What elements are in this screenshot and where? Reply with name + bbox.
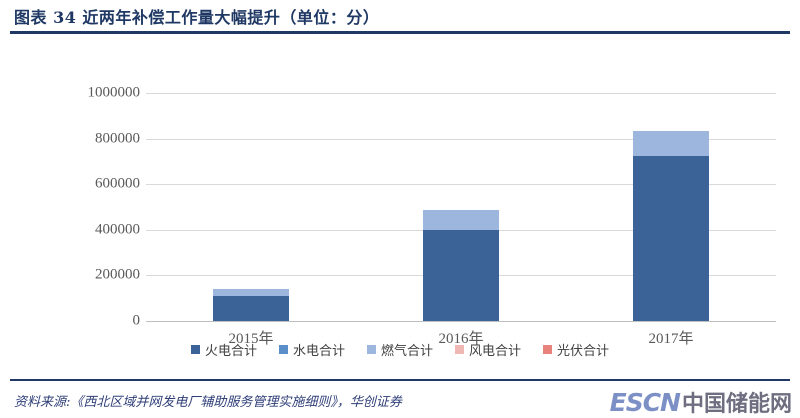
y-axis-tick-label: 200000 [95, 267, 140, 284]
legend-label: 光伏合计 [557, 340, 609, 359]
title-divider [10, 31, 790, 34]
y-axis: 02000004000006000008000001000000 [30, 93, 140, 321]
bar-stack[interactable] [633, 131, 709, 321]
bar-segment[interactable] [633, 156, 709, 321]
legend-label: 水电合计 [293, 340, 345, 359]
legend-swatch-icon [455, 345, 464, 354]
y-axis-tick-label: 400000 [95, 221, 140, 238]
legend-item[interactable]: 燃气合计 [367, 340, 433, 359]
bar-stack[interactable] [213, 289, 289, 321]
legend-label: 火电合计 [205, 340, 257, 359]
chart-title-bar: 图表 34 近两年补偿工作量大幅提升（单位：分） [0, 0, 800, 32]
legend-item[interactable]: 火电合计 [191, 340, 257, 359]
bar-stack[interactable] [423, 210, 499, 321]
source-note: 资料来源:《西北区域并网发电厂辅助服务管理实施细则》，华创证券 [0, 391, 402, 410]
bar-segment[interactable] [423, 210, 499, 229]
x-axis-line [146, 321, 776, 322]
y-axis-tick-label: 0 [133, 313, 141, 330]
bar-segment[interactable] [213, 296, 289, 321]
gridlines [146, 93, 776, 321]
legend-label: 燃气合计 [381, 340, 433, 359]
footer-divider [10, 379, 790, 381]
legend-item[interactable]: 风电合计 [455, 340, 521, 359]
page-title: 图表 34 近两年补偿工作量大幅提升（单位：分） [0, 4, 379, 28]
watermark-chinese-text: 中国储能网 [682, 386, 792, 418]
y-axis-tick-label: 600000 [95, 176, 140, 193]
y-axis-tick-label: 1000000 [88, 85, 141, 102]
escn-watermark: ESCN 中国储能网 [610, 386, 792, 418]
y-axis-tick-label: 800000 [95, 130, 140, 147]
legend-swatch-icon [543, 345, 552, 354]
chart-legend: 火电合计水电合计燃气合计风电合计光伏合计 [0, 338, 800, 360]
legend-swatch-icon [367, 345, 376, 354]
gridline [146, 93, 776, 94]
legend-item[interactable]: 光伏合计 [543, 340, 609, 359]
bar-segment[interactable] [423, 230, 499, 321]
legend-swatch-icon [191, 345, 200, 354]
bar-segment[interactable] [213, 289, 289, 296]
legend-item[interactable]: 水电合计 [279, 340, 345, 359]
legend-label: 风电合计 [469, 340, 521, 359]
chart-plot-area: 02000004000006000008000001000000 2015年20… [0, 40, 800, 365]
watermark-escn-text: ESCN [610, 388, 680, 417]
legend-swatch-icon [279, 345, 288, 354]
bar-segment[interactable] [633, 131, 709, 156]
